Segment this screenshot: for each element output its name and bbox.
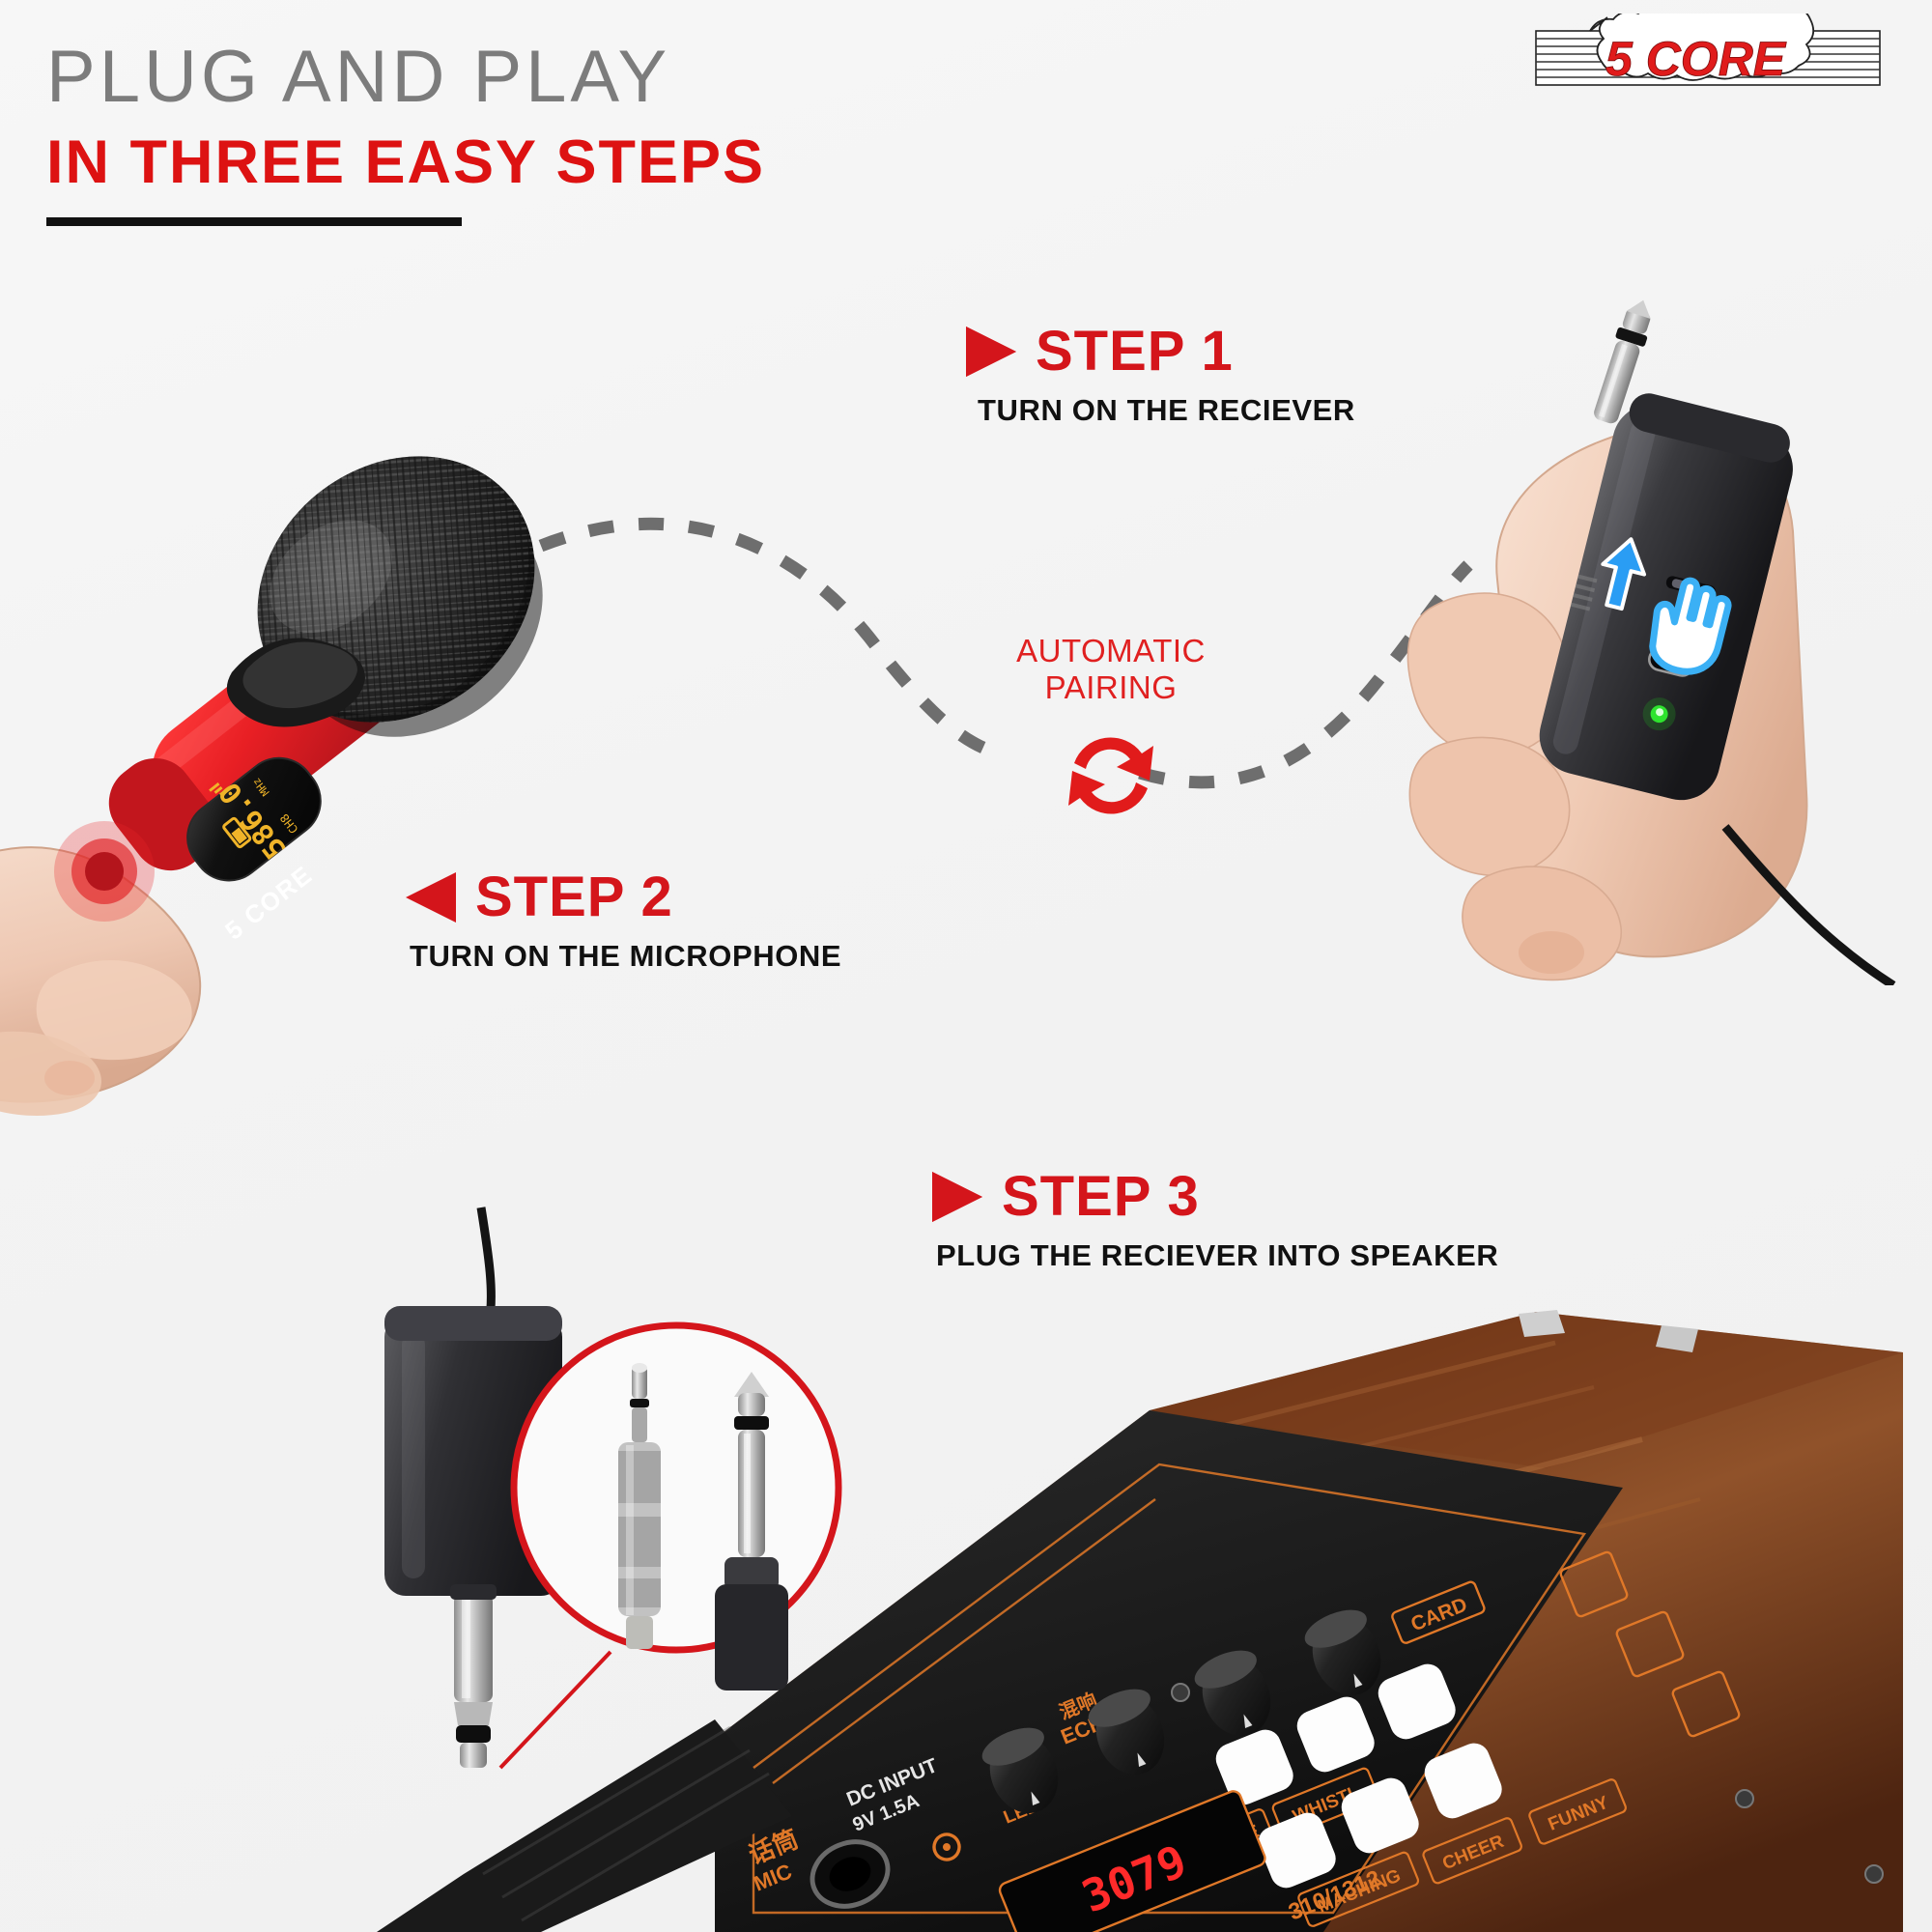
step-1-subtitle: TURN ON THE RECIEVER <box>978 393 1355 428</box>
bodypack-output-plug <box>450 1584 497 1768</box>
panel-screw <box>1865 1865 1883 1883</box>
step-1-heading: STEP 1 <box>966 319 1355 384</box>
sync-arrows-icon <box>995 724 1227 831</box>
receiver-illustration <box>1372 290 1932 985</box>
headline-primary: PLUG AND PLAY <box>46 39 765 116</box>
panel-screw <box>1172 1684 1189 1701</box>
callout-leader-line <box>500 1652 611 1768</box>
pairing-line-2: PAIRING <box>995 669 1227 706</box>
microphone-power-button <box>54 821 155 922</box>
panel-screw <box>1736 1790 1753 1807</box>
logo-text: 5 CORE <box>1605 32 1787 86</box>
step-1-title: STEP 1 <box>1036 319 1234 384</box>
speaker-and-connector-illustration: DC INPUT 9V 1.5A 话筒 MIC <box>174 1198 1932 1932</box>
step-1-label: STEP 1 TURN ON THE RECIEVER <box>966 319 1355 428</box>
headline-block: PLUG AND PLAY IN THREE EASY STEPS <box>46 39 765 226</box>
headline-secondary: IN THREE EASY STEPS <box>46 129 765 196</box>
chrome-corner <box>1519 1310 1565 1337</box>
headline-underline <box>46 217 462 226</box>
microphone-illustration: 586.0 CH8 MHz <box>0 425 638 1121</box>
brand-logo: 5 CORE <box>1534 14 1882 100</box>
automatic-pairing-callout: AUTOMATIC PAIRING <box>995 633 1227 831</box>
arrow-right-icon <box>966 327 1016 377</box>
infographic-canvas: PLUG AND PLAY IN THREE EASY STEPS 5 CORE <box>0 0 1932 1932</box>
pairing-line-1: AUTOMATIC <box>995 633 1227 669</box>
